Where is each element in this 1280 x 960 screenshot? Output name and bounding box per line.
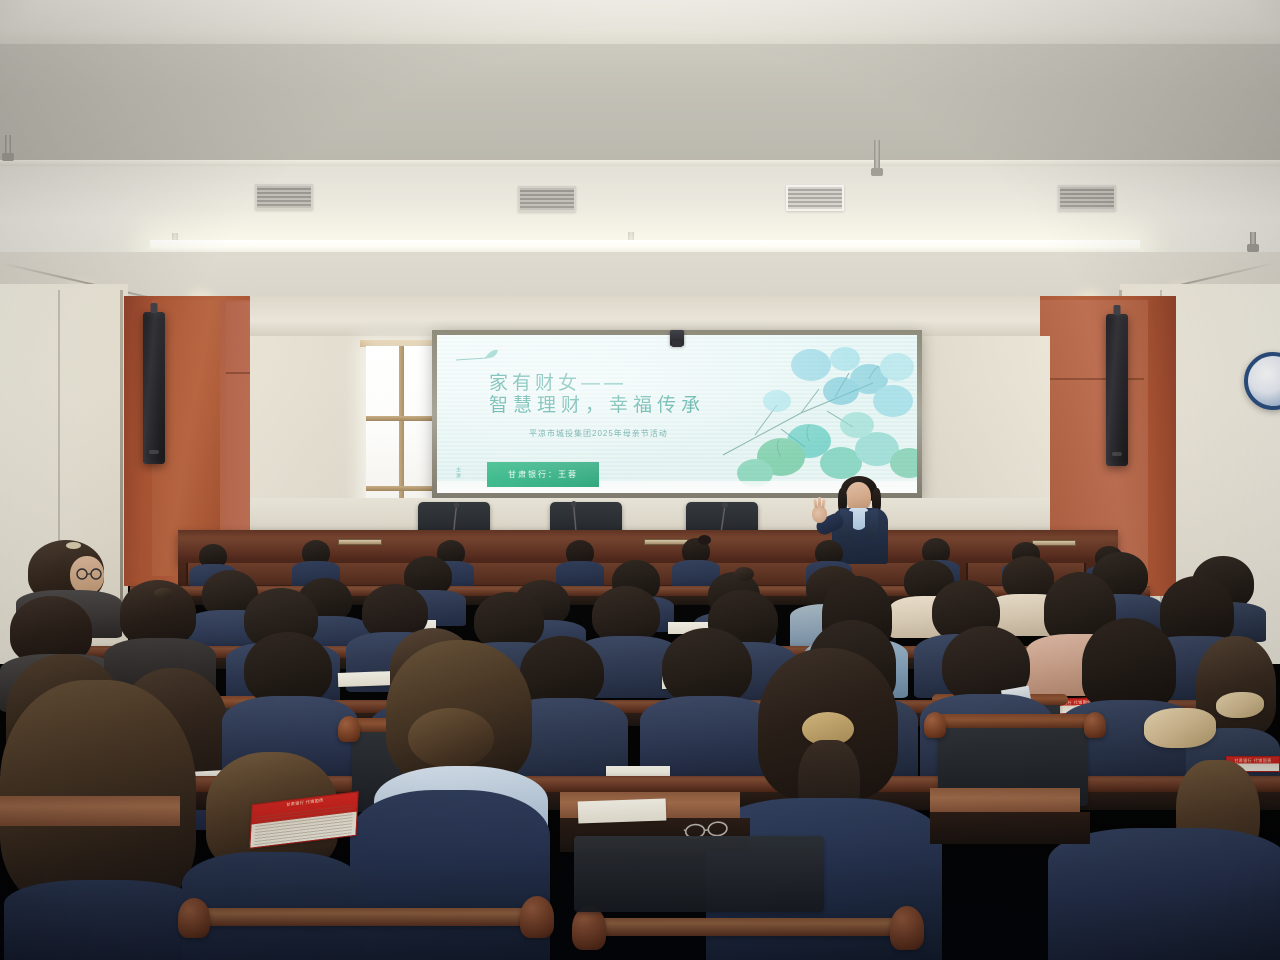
chair-top-rail bbox=[580, 918, 910, 936]
desk-shadow-gap bbox=[930, 812, 1090, 844]
person-hair bbox=[244, 632, 332, 706]
eyeglasses-icon bbox=[76, 568, 102, 580]
chair-top-rail bbox=[190, 908, 540, 926]
person-torso bbox=[1048, 828, 1280, 960]
person-torso bbox=[350, 790, 550, 960]
person-hair bbox=[0, 680, 196, 910]
person-hair-tie bbox=[734, 567, 754, 581]
hair-clip bbox=[66, 542, 81, 549]
audience-area: 甘肃银行 代销国债 甘肃银行 代销国债 bbox=[0, 0, 1280, 960]
hair-bow bbox=[1144, 708, 1216, 748]
person-torso bbox=[4, 880, 200, 960]
chair-finial bbox=[572, 906, 606, 950]
conference-room-photo: 家有财女—— 智慧理财，幸福传承 平凉市城投集团2025年母亲节活动 主讲 甘肃… bbox=[0, 0, 1280, 960]
chair-finial bbox=[520, 896, 554, 938]
person-torso bbox=[182, 852, 362, 960]
audience-chair-back bbox=[574, 836, 824, 912]
chair-finial bbox=[178, 898, 210, 938]
chair-finial bbox=[890, 906, 924, 950]
hair-bun bbox=[408, 708, 494, 768]
person-hair-tie bbox=[698, 535, 711, 545]
foreground-desk-top bbox=[0, 796, 180, 826]
hair-clip bbox=[154, 588, 174, 598]
desk-paper bbox=[578, 798, 667, 823]
